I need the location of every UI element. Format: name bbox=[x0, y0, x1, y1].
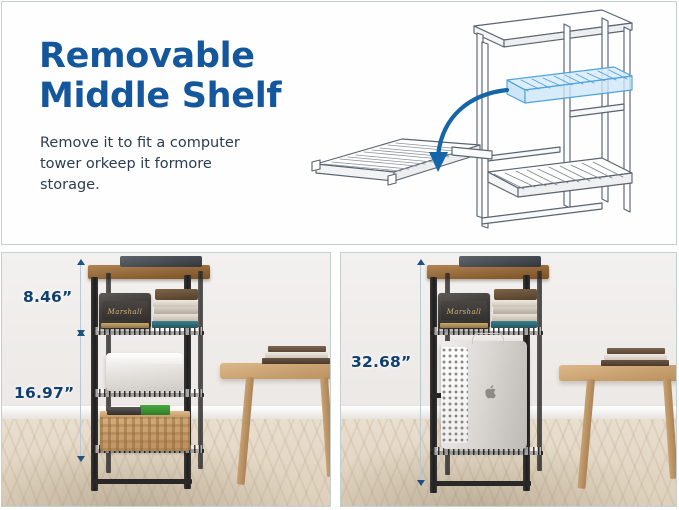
laptop bbox=[459, 256, 541, 267]
dimension-line-8-46 bbox=[80, 264, 81, 331]
desk-top bbox=[559, 365, 676, 381]
book bbox=[265, 352, 328, 358]
mac-pro-tower bbox=[441, 341, 527, 449]
dimension-arrow-down bbox=[417, 480, 425, 486]
book bbox=[607, 348, 665, 354]
wicker-basket bbox=[100, 411, 190, 451]
marshall-speaker: Marshall bbox=[99, 293, 151, 329]
apple-logo-icon bbox=[483, 383, 498, 400]
speaker-brand-label: Marshall bbox=[447, 308, 482, 316]
dimension-label-16-97: 16.97” bbox=[14, 384, 74, 402]
book bbox=[601, 360, 669, 366]
feature-description: Remove it to fit a computer tower orkeep… bbox=[40, 133, 272, 196]
book bbox=[153, 314, 198, 321]
shelf-post-front-left bbox=[91, 277, 98, 491]
photo-shelf-with-middle-shelf: Marshall bbox=[1, 252, 331, 507]
dimension-arrow-down bbox=[77, 456, 85, 462]
book bbox=[492, 300, 537, 307]
book bbox=[154, 307, 198, 314]
marshall-speaker: Marshall bbox=[438, 293, 490, 329]
dimension-line-32-68 bbox=[420, 264, 421, 481]
shelf-post-front-left bbox=[430, 277, 437, 493]
desk-top bbox=[220, 363, 330, 379]
dimension-label-32-68: 32.68” bbox=[351, 353, 411, 371]
desk-book-stack bbox=[260, 345, 330, 365]
book bbox=[604, 354, 667, 360]
book bbox=[155, 289, 198, 300]
book-stack-tier1 bbox=[152, 289, 200, 329]
book bbox=[152, 321, 198, 328]
speaker-brand-label: Marshall bbox=[108, 308, 143, 316]
laptop bbox=[120, 256, 202, 267]
dimension-arrow-up bbox=[77, 330, 85, 336]
book bbox=[493, 307, 537, 314]
dimension-line-16-97 bbox=[80, 335, 81, 457]
book bbox=[491, 321, 537, 328]
book bbox=[494, 289, 537, 300]
headline-line-1: Removable bbox=[39, 36, 255, 76]
book bbox=[268, 346, 326, 352]
book bbox=[492, 314, 537, 321]
photo-shelf-without-middle-shelf: Marshall bbox=[340, 252, 677, 507]
infographic-page: Removable Middle Shelf Remove it to fit … bbox=[0, 0, 679, 510]
desk-book-stack bbox=[599, 347, 671, 367]
headline-line-2: Middle Shelf bbox=[39, 76, 339, 116]
printer bbox=[106, 353, 184, 391]
speaker-base bbox=[101, 323, 149, 328]
page-title: Removable Middle Shelf bbox=[39, 36, 339, 117]
dimension-label-8-46: 8.46” bbox=[23, 288, 72, 306]
removable-shelf-diagram bbox=[302, 6, 677, 245]
book bbox=[153, 300, 198, 307]
speaker-base bbox=[440, 323, 488, 328]
book-stack-tier1 bbox=[491, 289, 539, 329]
feature-panel: Removable Middle Shelf Remove it to fit … bbox=[1, 1, 677, 245]
tower-front-grid bbox=[441, 347, 468, 442]
book bbox=[262, 358, 330, 364]
shelf-foot-rail bbox=[431, 481, 531, 486]
dimension-arrow-up bbox=[417, 259, 425, 265]
shelf-foot-rail bbox=[92, 479, 192, 484]
printer-lid bbox=[108, 353, 181, 364]
room-scene-right: Marshall bbox=[341, 253, 676, 506]
basket-item-dark bbox=[107, 407, 141, 415]
room-scene-left: Marshall bbox=[2, 253, 330, 506]
dimension-arrow-up bbox=[77, 259, 85, 265]
basket-item-green bbox=[140, 405, 170, 415]
tower-handle bbox=[472, 333, 504, 344]
